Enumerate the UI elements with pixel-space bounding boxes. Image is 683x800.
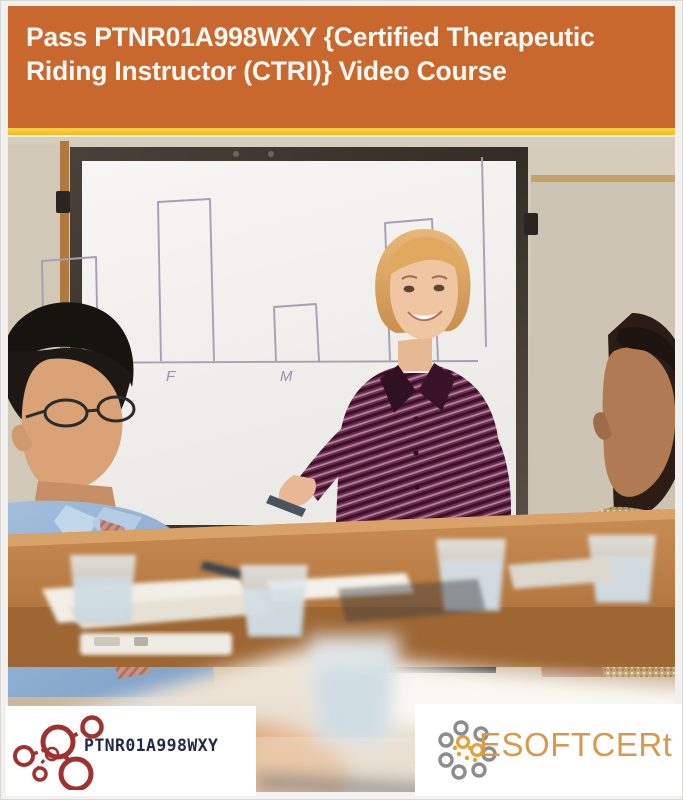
- esoftcert-logo-text: ESOFTCERt: [479, 726, 672, 764]
- ptnr-logo: PTNR01A998WXY: [6, 706, 256, 796]
- page-title: Pass PTNR01A998WXY {Certified Therapeuti…: [26, 20, 666, 88]
- meeting-room-illustration: J F M A: [8, 137, 675, 792]
- course-cover-page: Pass PTNR01A998WXY {Certified Therapeuti…: [0, 0, 683, 800]
- header-accent-rule: [8, 128, 675, 135]
- svg-text:M: M: [280, 368, 293, 385]
- esoftcert-logo: ESOFTCERt: [415, 704, 683, 796]
- header-banner: Pass PTNR01A998WXY {Certified Therapeuti…: [8, 6, 675, 128]
- cover-photo: J F M A: [8, 137, 675, 792]
- ptnr-logo-text: PTNR01A998WXY: [84, 736, 218, 755]
- svg-text:F: F: [166, 368, 176, 385]
